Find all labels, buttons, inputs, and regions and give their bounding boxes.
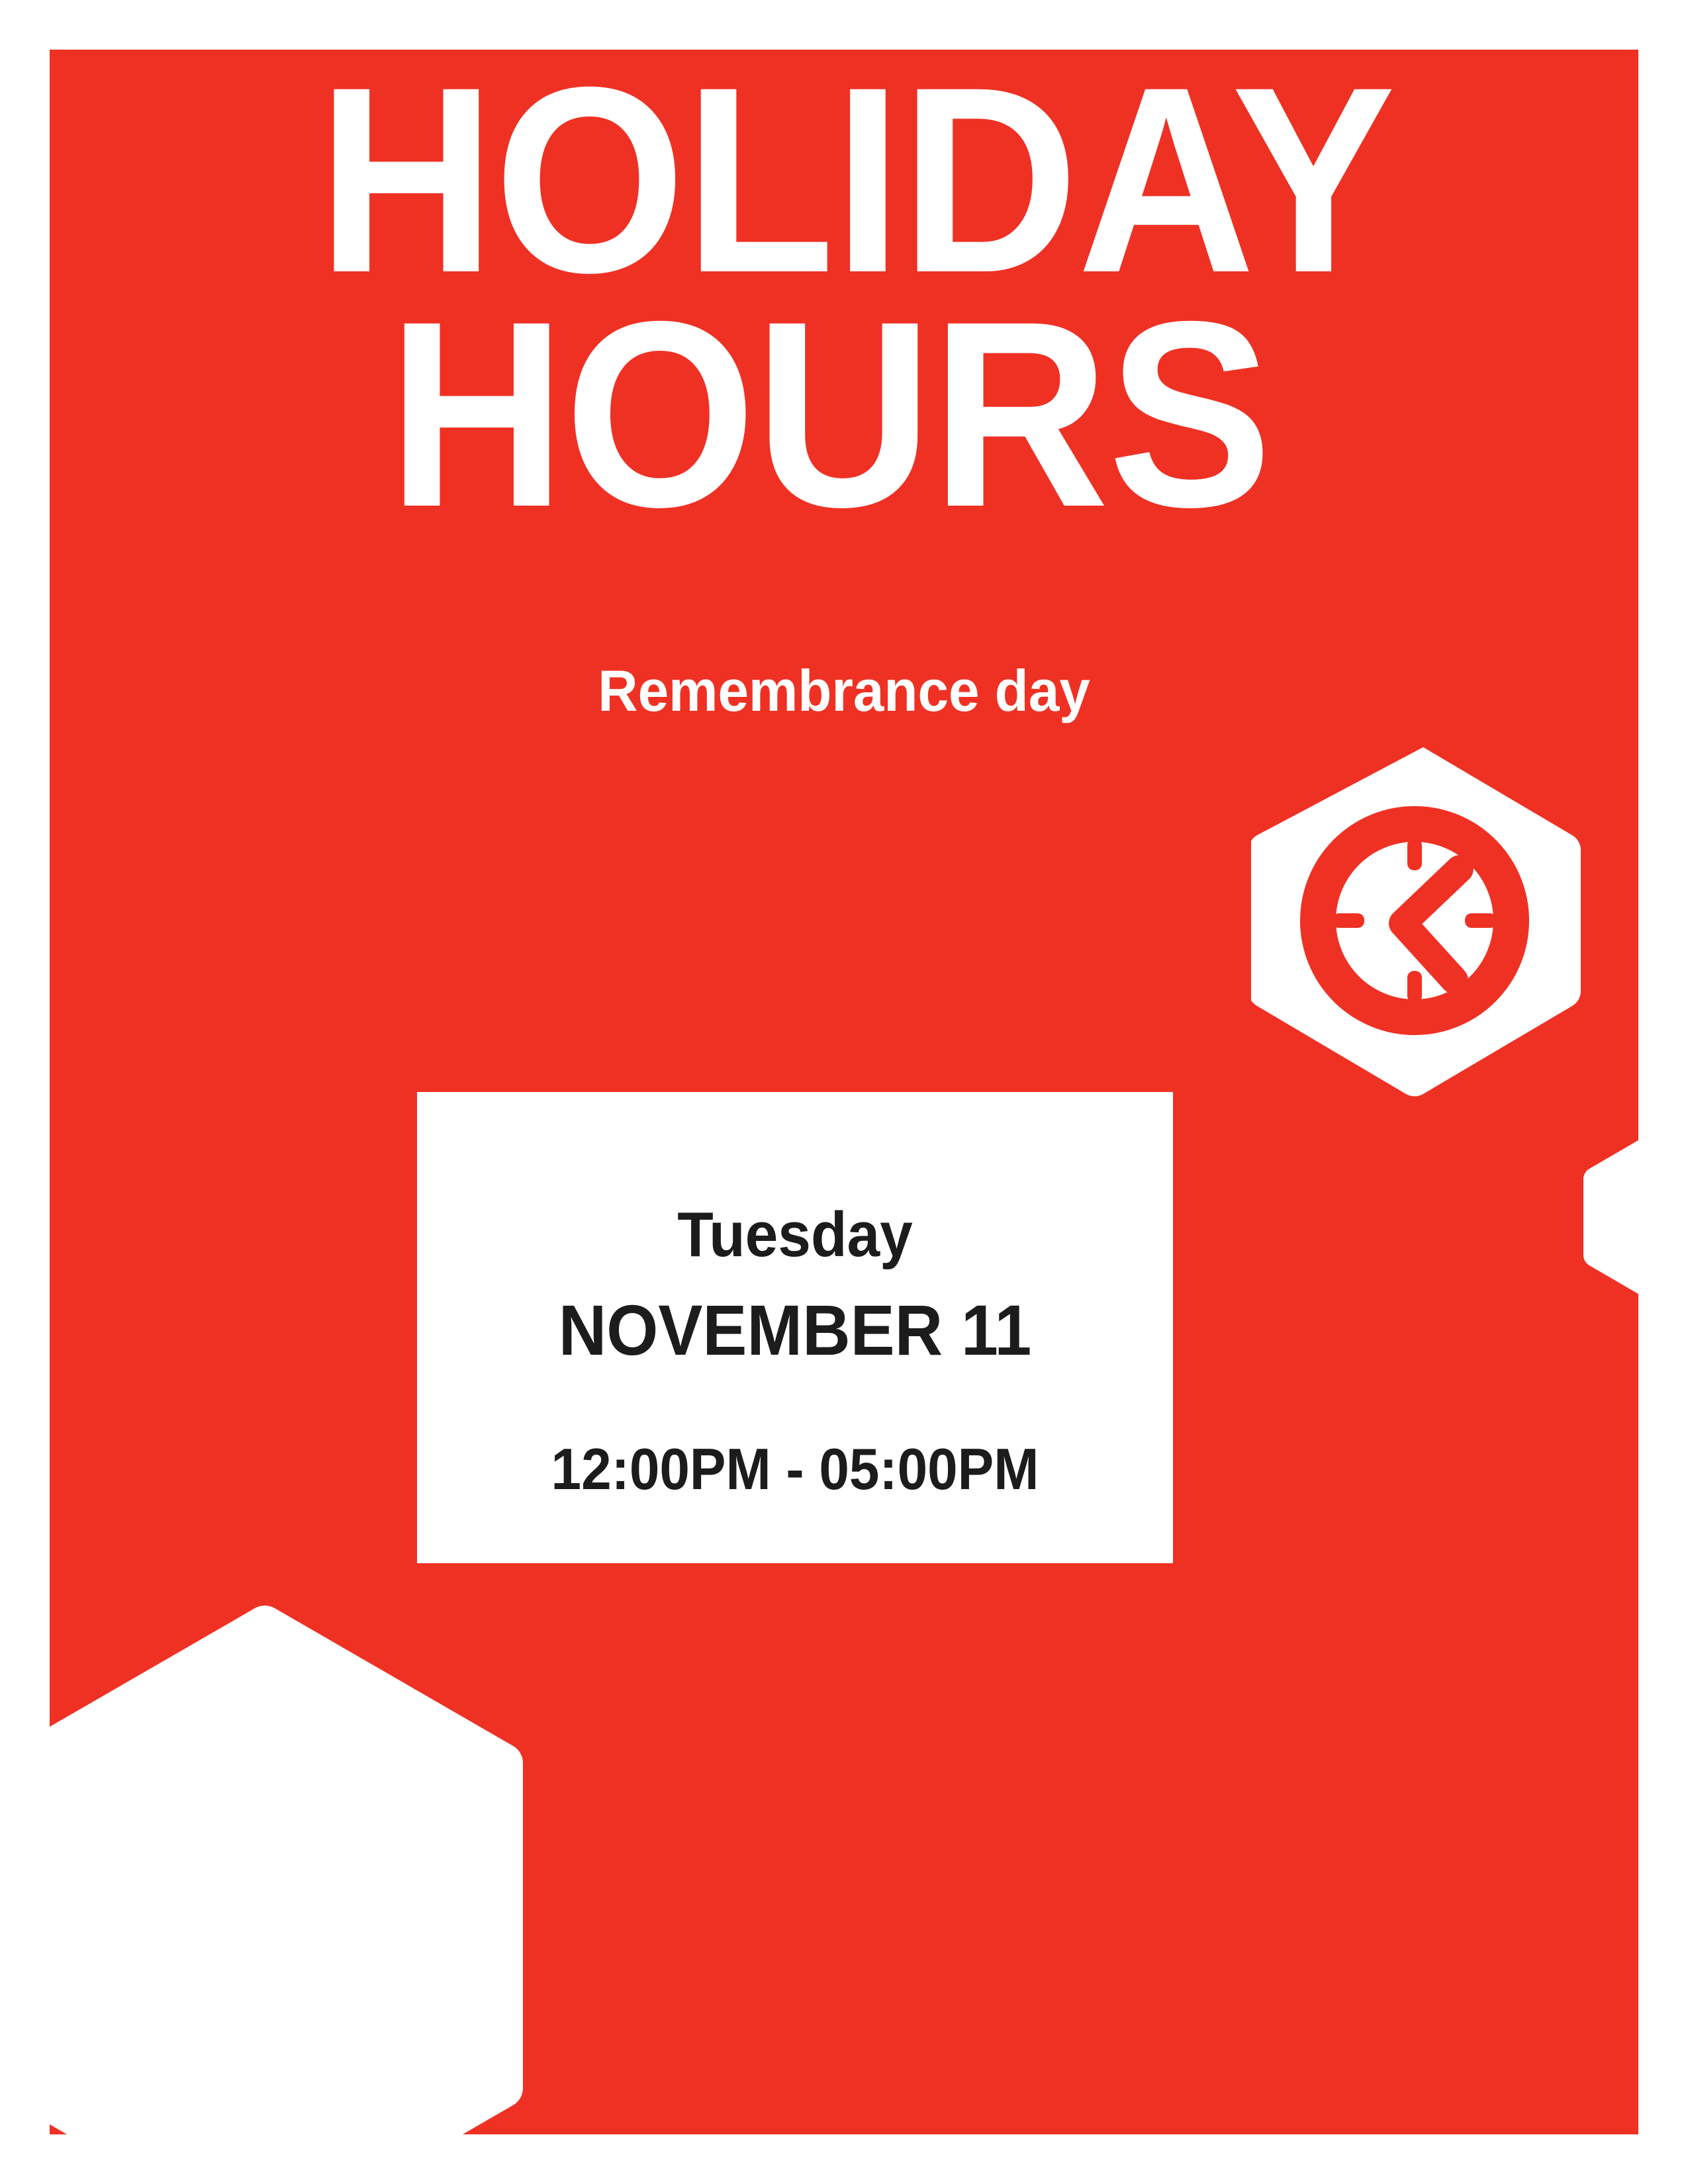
poster-title-line-2: HOURS [77, 297, 1582, 531]
card-weekday: Tuesday [444, 1203, 1147, 1267]
card-time-range: 12:00PM - 05:00PM [444, 1440, 1147, 1498]
card-date: NOVEMBER 11 [444, 1295, 1147, 1366]
hours-info-card: Tuesday NOVEMBER 11 12:00PM - 05:00PM [417, 1092, 1173, 1563]
hexagon-shape-small-icon [1532, 1089, 1638, 1300]
poster-subtitle: Remembrance day [89, 657, 1599, 725]
decorative-hexagon-right [1532, 1089, 1638, 1300]
decorative-hexagon-bottom-left [50, 1506, 549, 2134]
clock-badge [1251, 728, 1595, 1125]
holiday-hours-poster: HOLIDAY HOURS Remembrance day [0, 0, 1688, 2184]
poster-title-line-1: HOLIDAY [128, 63, 1584, 297]
clock-icon [1251, 728, 1595, 1125]
headline-block: HOLIDAY HOURS [50, 63, 1638, 531]
hexagon-shape-corner-icon [50, 1506, 549, 2134]
